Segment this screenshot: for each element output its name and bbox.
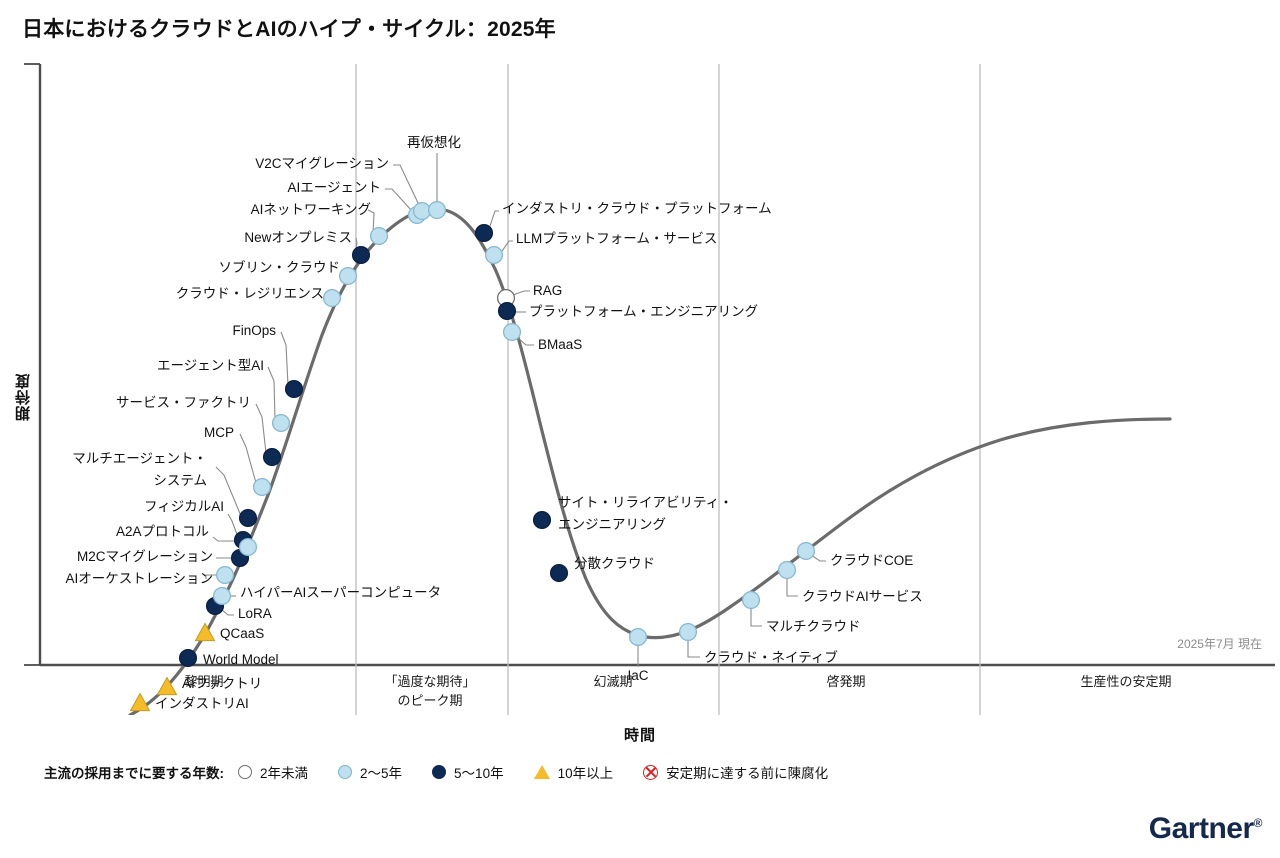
data-point-label: プラットフォーム・エンジニアリング [529, 304, 758, 319]
data-point-label: BMaaS [538, 337, 582, 352]
data-point-label: World Model [203, 652, 279, 667]
data-point-marker[interactable] [630, 629, 647, 646]
registered-mark: ® [1254, 816, 1262, 830]
data-point-marker[interactable] [486, 247, 503, 264]
data-point-marker[interactable] [264, 449, 281, 466]
data-point-marker[interactable] [353, 247, 370, 264]
data-point-label: クラウドAIサービス [802, 589, 923, 604]
phase-label-3: 啓発期 [736, 673, 956, 692]
leader-line [256, 404, 266, 453]
data-point-label: インダストリAI [155, 696, 249, 711]
data-point-label: クラウドCOE [830, 553, 913, 568]
legend-item-label: 10年以上 [558, 762, 614, 782]
leader-line [688, 639, 700, 657]
data-point-label: クラウド・レジリエンス [176, 286, 324, 301]
legend-item-label: 2年未満 [260, 762, 308, 782]
data-point-label: QCaaS [220, 626, 264, 641]
hype-cycle-plot: インダストリAIAIファクトリWorld ModelQCaaSLoRAハイパーA… [0, 55, 1280, 715]
data-point-marker[interactable] [743, 592, 760, 609]
current-date-annotation: 2025年7月 現在 [1177, 635, 1262, 652]
data-point-label: V2Cマイグレーション [255, 156, 389, 171]
circle-white-icon [238, 765, 252, 779]
x-axis-title: 時間 [0, 724, 1280, 745]
data-point-marker[interactable] [217, 567, 234, 584]
data-point-marker[interactable] [551, 565, 568, 582]
data-point-label: サービス・ファクトリ [116, 395, 251, 410]
leader-line [513, 291, 530, 295]
plot-frame [24, 64, 1275, 715]
legend-item-2[interactable]: 5〜10年 [432, 762, 504, 782]
data-point-label: RAG [533, 283, 562, 298]
legend-item-0[interactable]: 2年未満 [238, 762, 308, 782]
data-point-label: 再仮想化 [407, 135, 461, 150]
data-point-marker[interactable] [779, 562, 796, 579]
phase-dividers [356, 64, 980, 715]
data-point-label: MCP [204, 425, 234, 440]
phase-label-0: 黎明期 [94, 673, 314, 692]
legend-item-3[interactable]: 10年以上 [534, 762, 614, 782]
data-point-label: ハイパーAIスーパーコンピュータ [240, 585, 441, 600]
y-axis-title: 期待度 [13, 373, 34, 421]
legend-item-label: 安定期に達する前に陳腐化 [666, 762, 828, 782]
phase-label-line: 生産性の安定期 [1016, 673, 1236, 692]
legend-title: 主流の採用までに要する年数: [44, 762, 224, 782]
data-point-label: AIエージェント [288, 180, 382, 195]
data-point-label: M2Cマイグレーション [77, 549, 213, 564]
data-points-layer: インダストリAIAIファクトリWorld ModelQCaaSLoRAハイパーA… [66, 135, 923, 711]
data-point-label: マルチエージェント・システム [72, 451, 207, 488]
leader-line [393, 165, 419, 205]
leader-line [787, 577, 798, 596]
data-point-label: フィジカルAI [144, 499, 224, 514]
data-point-marker[interactable] [214, 588, 231, 605]
data-point-marker[interactable] [240, 510, 257, 527]
phase-label-line: 幻滅期 [503, 673, 723, 692]
hype-cycle-svg: インダストリAIAIファクトリWorld ModelQCaaSLoRAハイパーA… [0, 55, 1280, 715]
data-point-label: FinOps [232, 323, 276, 338]
data-point-marker[interactable] [286, 381, 303, 398]
obsolete-icon [643, 765, 658, 780]
data-point-label: Newオンプレミス [244, 230, 352, 245]
data-point-marker[interactable] [340, 268, 357, 285]
leader-line [281, 332, 288, 385]
data-point-marker[interactable] [504, 324, 521, 341]
data-point-label: インダストリ・クラウド・プラットフォーム [502, 201, 772, 216]
data-point-marker[interactable] [476, 225, 493, 242]
legend-item-1[interactable]: 2〜5年 [338, 762, 402, 782]
leader-line [213, 537, 236, 541]
data-point-marker[interactable] [324, 290, 341, 307]
leader-line [385, 189, 412, 211]
data-point-label: AIオーケストレーション [66, 571, 214, 586]
phase-label-line: のピーク期 [320, 692, 540, 711]
data-point-label: 分散クラウド [574, 556, 655, 571]
data-point-marker[interactable] [414, 203, 431, 220]
data-point-label: エージェント型AI [157, 358, 264, 373]
circle-light-icon [338, 765, 352, 779]
gartner-logo-text: Gartner [1149, 812, 1254, 845]
leader-line [751, 607, 762, 626]
data-point-label: マルチクラウド [766, 619, 861, 634]
data-point-marker[interactable] [180, 650, 197, 667]
data-point-label: サイト・リライアビリティ・エンジニアリング [558, 495, 733, 532]
leader-line [240, 434, 256, 483]
data-point-marker[interactable] [273, 415, 290, 432]
phase-label-line: 黎明期 [94, 673, 314, 692]
legend-item-label: 5〜10年 [454, 762, 504, 782]
leader-line [489, 211, 499, 229]
page-title: 日本におけるクラウドとAIのハイプ・サイクル：2025年 [22, 13, 556, 43]
hype-cycle-curve [130, 209, 1170, 715]
phase-label-2: 幻滅期 [503, 673, 723, 692]
data-point-marker[interactable] [534, 512, 551, 529]
gartner-logo: Gartner® [1149, 812, 1262, 846]
data-point-marker[interactable] [196, 624, 215, 641]
phase-label-line: 啓発期 [736, 673, 956, 692]
legend-item-label: 2〜5年 [360, 762, 402, 782]
data-point-label: AIネットワーキング [251, 202, 371, 217]
data-point-marker[interactable] [254, 479, 271, 496]
data-point-label: ソブリン・クラウド [219, 259, 341, 275]
triangle-icon [534, 765, 550, 779]
circle-navy-icon [432, 765, 446, 779]
data-point-label: A2Aプロトコル [116, 524, 209, 539]
legend: 主流の採用までに要する年数: 2年未満2〜5年5〜10年10年以上安定期に達する… [44, 762, 858, 782]
data-point-marker[interactable] [499, 303, 516, 320]
data-point-label: LLMプラットフォーム・サービス [516, 231, 717, 246]
leader-line [268, 367, 275, 419]
data-point-marker[interactable] [240, 539, 257, 556]
data-point-marker[interactable] [798, 543, 815, 560]
data-point-marker[interactable] [429, 202, 446, 219]
legend-item-4[interactable]: 安定期に達する前に陳腐化 [643, 762, 828, 782]
data-point-marker[interactable] [131, 694, 150, 711]
data-point-marker[interactable] [371, 228, 388, 245]
data-point-label: クラウド・ネイティブ [704, 649, 838, 665]
phase-label-4: 生産性の安定期 [1016, 673, 1236, 692]
data-point-label: LoRA [238, 606, 272, 621]
data-point-marker[interactable] [680, 624, 697, 641]
